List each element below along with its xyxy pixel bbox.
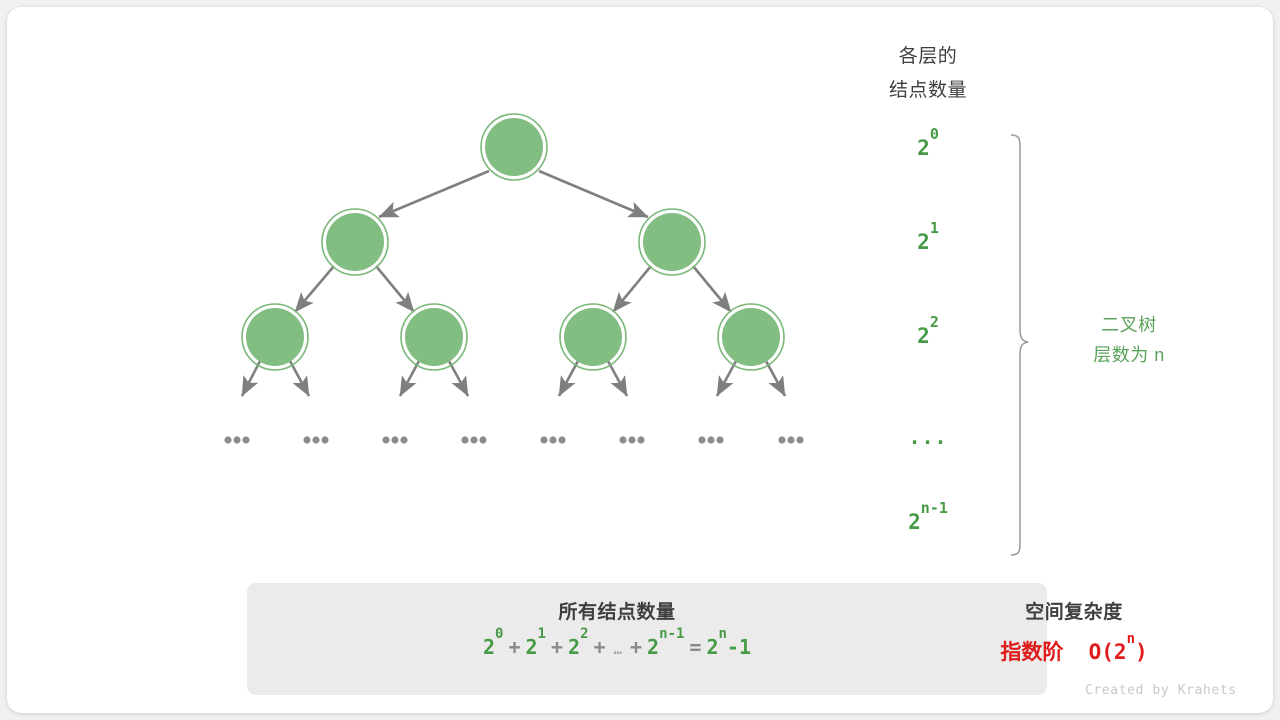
column-header-line2: 结点数量 [853, 74, 1003, 108]
level-count-exponent: 1 [930, 219, 939, 237]
level-count-label-1: 21 [853, 227, 1003, 254]
level-count-exponent: 2 [930, 313, 939, 331]
total-nodes-formula: 20+21+22+…+2n-1=2n-1 [267, 634, 967, 659]
tree-node [322, 209, 388, 275]
ellipsis-dots [698, 436, 723, 443]
tree-edges-level-2 [295, 266, 731, 312]
ellipsis-dots [461, 436, 486, 443]
formula-term-0: 20 [483, 635, 503, 659]
tree-leaf-ellipsis-row [224, 436, 803, 443]
tree-node [718, 304, 784, 370]
formula-op: + [503, 635, 525, 659]
level-count-base: 2 [917, 230, 930, 254]
ellipsis-dots [540, 436, 565, 443]
ellipsis-dots [382, 436, 407, 443]
level-count-exponent: 0 [930, 125, 939, 143]
formula-op: + [589, 635, 611, 659]
level-count-base: 2 [908, 510, 921, 534]
ellipsis-dots [619, 436, 644, 443]
space-complexity-section: 空间复杂度 指数阶 O(2n) [959, 597, 1189, 666]
level-count-exponent: n-1 [921, 499, 948, 517]
complexity-notation: O(2n) [1089, 640, 1148, 664]
total-nodes-section: 所有结点数量 20+21+22+…+2n-1=2n-1 [267, 597, 967, 659]
level-span-brace [1011, 135, 1028, 555]
formula-term-last: 2n-1 [647, 635, 684, 659]
tree-node [560, 304, 626, 370]
level-count-label-last: 2n-1 [853, 507, 1003, 534]
ellipsis-dots [303, 436, 328, 443]
total-nodes-title: 所有结点数量 [267, 597, 967, 624]
tree-edges-level-3 [242, 361, 785, 396]
summary-panel: 所有结点数量 20+21+22+…+2n-1=2n-1 空间复杂度 指数阶 O(… [247, 583, 1047, 695]
formula-term-1: 21 [526, 635, 546, 659]
column-header: 各层的 结点数量 [853, 40, 1003, 108]
level-count-base: 2 [917, 324, 930, 348]
brace-label: 二叉树 层数为 n [1029, 310, 1229, 370]
level-count-label-0: 20 [853, 133, 1003, 160]
space-complexity-value: 指数阶 O(2n) [959, 636, 1189, 666]
brace-label-line2: 层数为 n [1029, 340, 1229, 370]
formula-op: + [625, 635, 647, 659]
tree-node [242, 304, 308, 370]
tree-edges-level-1 [379, 171, 648, 217]
ellipsis-dots [224, 436, 249, 443]
formula-op: + [546, 635, 568, 659]
ellipsis-dots [778, 436, 803, 443]
formula-term-2: 22 [568, 635, 588, 659]
space-complexity-title: 空间复杂度 [959, 597, 1189, 624]
level-count-label-ellipsis: ... [853, 425, 1003, 449]
credit-text: Created by Krahets [1085, 683, 1237, 698]
formula-equals: = [684, 635, 706, 659]
complexity-class-label: 指数阶 [1000, 641, 1063, 664]
tree-node [481, 114, 547, 180]
tree-nodes [242, 114, 784, 370]
level-count-label-2: 22 [853, 321, 1003, 348]
formula-ellipsis: … [611, 642, 625, 658]
tree-node [639, 209, 705, 275]
page-background: 各层的 结点数量 20 21 22 ... 2n-1 二叉树 层数为 n 所有结… [0, 0, 1280, 720]
level-count-base: 2 [917, 136, 930, 160]
brace-label-line1: 二叉树 [1029, 310, 1229, 340]
tree-node [401, 304, 467, 370]
figure-card: 各层的 结点数量 20 21 22 ... 2n-1 二叉树 层数为 n 所有结… [7, 7, 1273, 713]
formula-result: 2n-1 [706, 635, 751, 659]
column-header-line1: 各层的 [853, 40, 1003, 74]
